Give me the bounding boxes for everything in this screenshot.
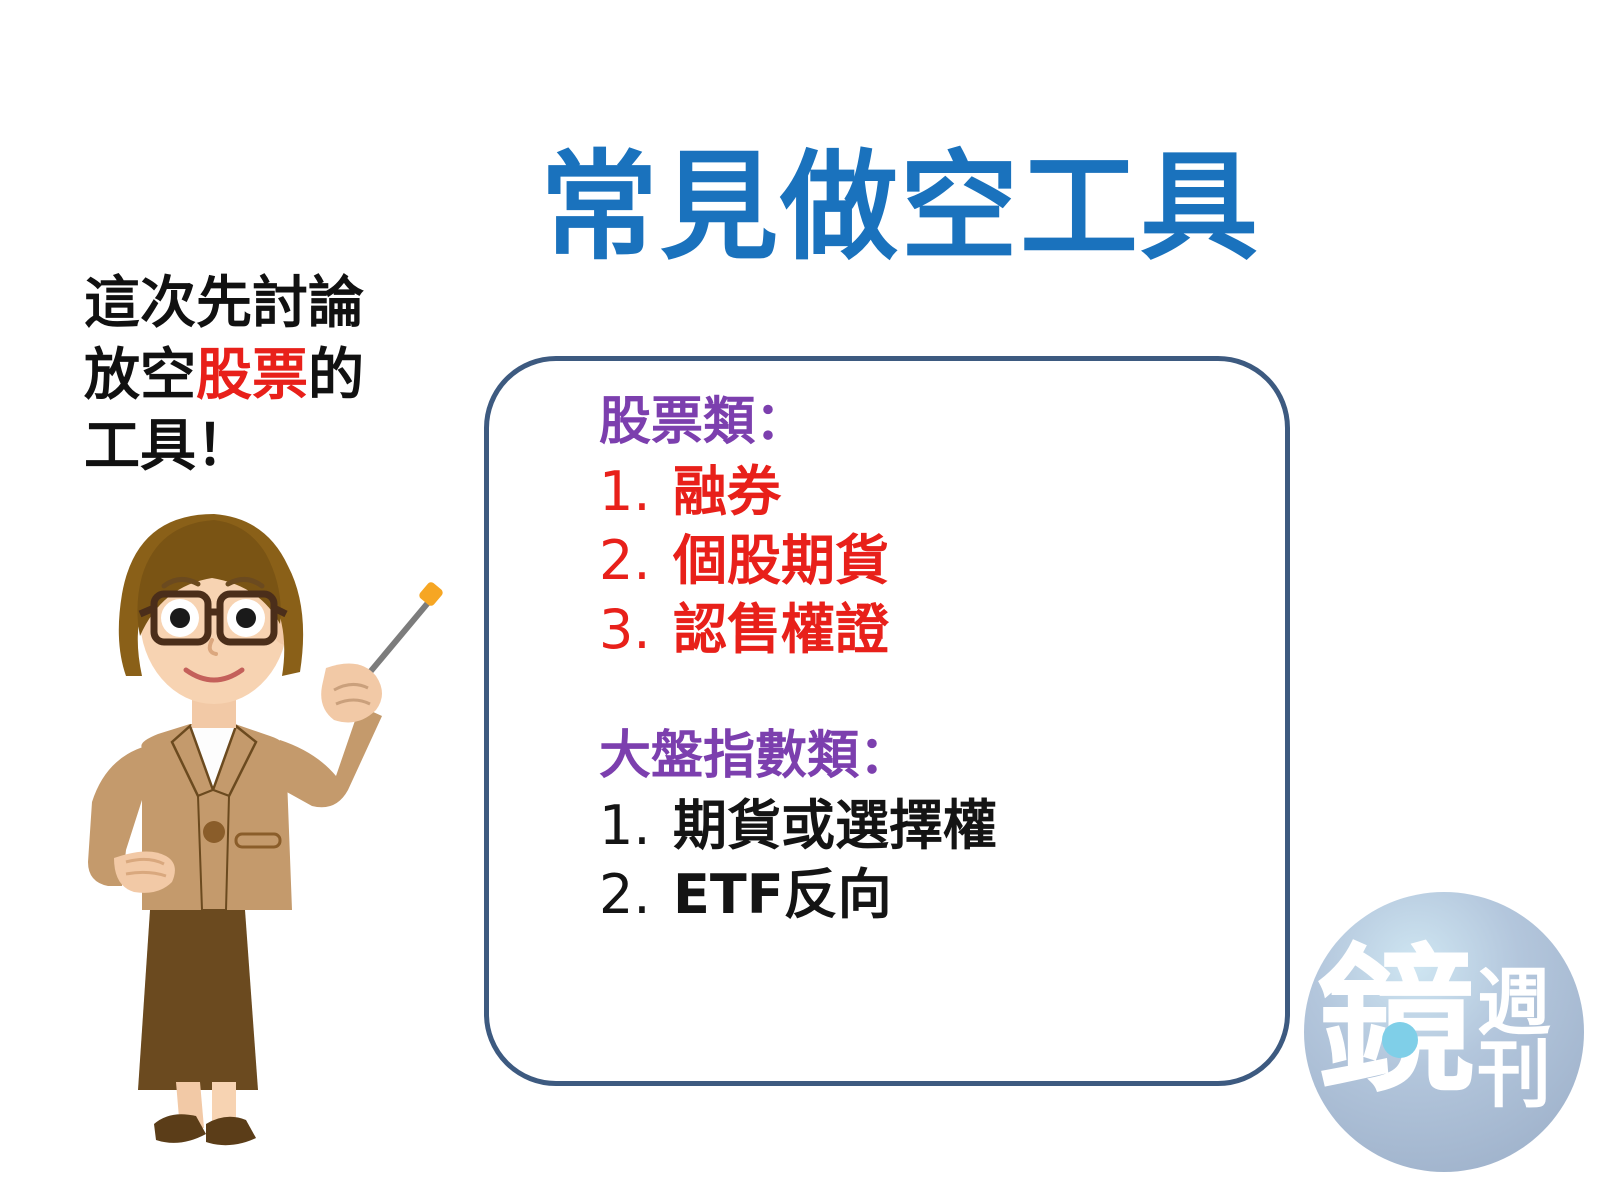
caption-line-2: 放空股票的: [84, 340, 414, 412]
tool-group-stocks: 股票類： 1. 融券 2. 個股期貨 3. 認售權證: [599, 393, 1259, 665]
list-item-label: 融券: [673, 457, 781, 526]
list-item: 3. 認售權證: [599, 595, 1259, 664]
list-item-number: 3.: [599, 595, 673, 664]
arm-right: [276, 706, 382, 807]
list-item-number: 1.: [599, 457, 673, 526]
tool-group-stocks-list: 1. 融券 2. 個股期貨 3. 認售權證: [599, 457, 1259, 664]
skirt: [138, 910, 258, 1090]
watermark-char-sub-bottom: 刊: [1477, 1032, 1551, 1118]
left-caption: 這次先討論 放空股票的 工具！: [84, 268, 414, 483]
jacket-button: [203, 821, 225, 843]
list-item-label: 個股期貨: [673, 526, 889, 595]
presenter-illustration: [30, 490, 450, 1160]
list-item: 2. ETF反向: [599, 860, 1259, 929]
shoe-right: [206, 1117, 256, 1145]
watermark-lens-dot: [1382, 1022, 1418, 1058]
caption-line-3: 工具！: [84, 411, 414, 483]
tool-group-index: 大盤指數類： 1. 期貨或選擇權 2. ETF反向: [599, 727, 1259, 929]
list-item-number: 2.: [599, 860, 673, 929]
list-item: 1. 融券: [599, 457, 1259, 526]
list-item: 2. 個股期貨: [599, 526, 1259, 595]
list-item-label: 認售權證: [673, 595, 889, 664]
watermark-char-main: 鏡: [1317, 930, 1475, 1114]
tool-group-stocks-heading: 股票類：: [599, 393, 1259, 451]
list-item: 1. 期貨或選擇權: [599, 791, 1259, 860]
tools-panel: 股票類： 1. 融券 2. 個股期貨 3. 認售權證: [484, 356, 1290, 1086]
tool-group-index-list: 1. 期貨或選擇權 2. ETF反向: [599, 791, 1259, 929]
caption-line-2-highlight: 股票: [196, 343, 308, 408]
caption-line-1: 這次先討論: [84, 268, 414, 340]
list-item-label: 期貨或選擇權: [673, 791, 997, 860]
group-spacer: [599, 665, 1259, 727]
list-item-number: 1.: [599, 791, 673, 860]
watermark-logo: 鏡 週 刊: [1300, 888, 1588, 1176]
tools-panel-content: 股票類： 1. 融券 2. 個股期貨 3. 認售權證: [599, 393, 1259, 929]
jacket-front: [198, 790, 229, 910]
list-item-label: ETF反向: [673, 860, 892, 929]
page-title: 常見做空工具: [480, 148, 1320, 266]
tool-group-index-heading: 大盤指數類：: [599, 727, 1259, 785]
caption-line-2-after: 的: [308, 343, 364, 408]
caption-line-2-before: 放空: [84, 343, 196, 408]
slide-canvas: 常見做空工具 這次先討論 放空股票的 工具！ 股票類： 1. 融券 2. 個股期…: [0, 0, 1600, 1200]
list-item-number: 2.: [599, 526, 673, 595]
